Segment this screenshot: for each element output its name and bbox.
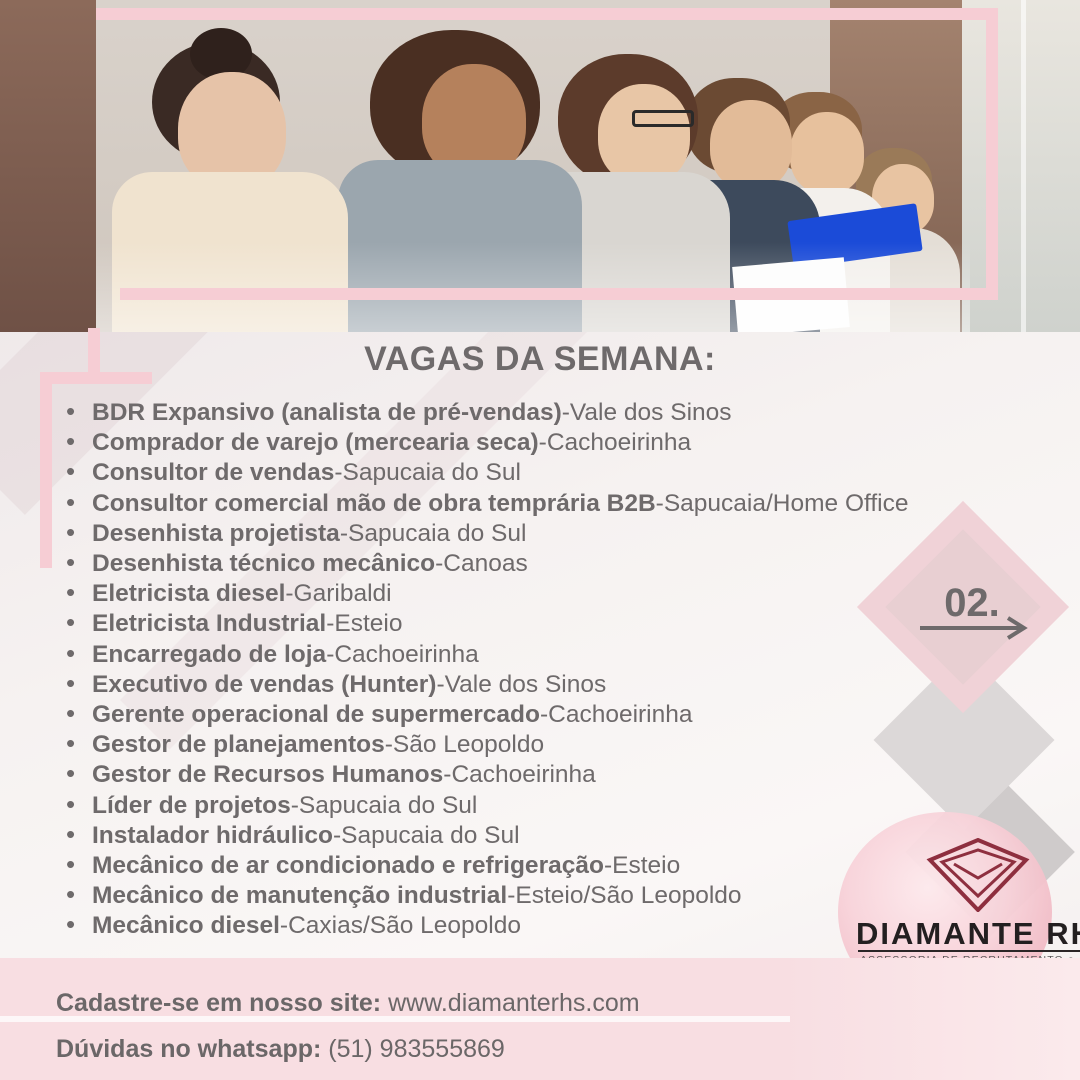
job-role: Gestor de Recursos Humanos (92, 761, 443, 788)
job-city: -Cachoeirinha (326, 641, 479, 668)
list-item: BDR Expansivo (analista de pré-vendas)-V… (58, 398, 1058, 428)
job-city: -Esteio/São Leopoldo (507, 882, 741, 909)
job-role: Desenhista técnico mecânico (92, 550, 435, 577)
job-role: Eletricista Industrial (92, 610, 326, 637)
job-city: -Canoas (435, 550, 528, 577)
job-city: -Cachoeirinha (443, 761, 596, 788)
footer-whatsapp-label: Dúvidas no whatsapp: (56, 1035, 321, 1063)
arrow-right-icon (918, 614, 1036, 642)
job-city: -Cachoeirinha (540, 701, 693, 728)
job-city: -Esteio (604, 852, 680, 879)
job-role: Comprador de varejo (mercearia seca) (92, 429, 539, 456)
job-role: Executivo de vendas (Hunter) (92, 671, 436, 698)
frame-line-left (40, 372, 52, 568)
photo-window (962, 0, 1080, 332)
job-role: Gerente operacional de supermercado (92, 701, 540, 728)
diamond-icon (924, 838, 1032, 912)
job-role: Mecânico de manutenção industrial (92, 882, 507, 909)
job-city: -Sapucaia do Sul (333, 822, 520, 849)
job-role: Líder de projetos (92, 792, 291, 819)
list-item: Consultor de vendas-Sapucaia do Sul (58, 458, 1058, 488)
frame-line-top (96, 8, 998, 20)
header-photo (0, 0, 1080, 332)
footer-whatsapp-value[interactable]: (51) 983555869 (328, 1035, 505, 1063)
job-role: Instalador hidráulico (92, 822, 333, 849)
job-role: Desenhista projetista (92, 520, 340, 547)
list-item: Desenhista projetista-Sapucaia do Sul (58, 519, 1058, 549)
job-role: Consultor de vendas (92, 459, 334, 486)
frame-line-right (986, 8, 998, 300)
job-city: -Sapucaia do Sul (291, 792, 478, 819)
list-item: Consultor comercial mão de obra temprári… (58, 489, 1058, 519)
list-item: Comprador de varejo (mercearia seca)-Cac… (58, 428, 1058, 458)
job-role: BDR Expansivo (analista de pré-vendas) (92, 399, 562, 426)
job-role: Gestor de planejamentos (92, 731, 385, 758)
job-city: -Sapucaia do Sul (334, 459, 521, 486)
job-city: -Esteio (326, 610, 402, 637)
job-role: Mecânico diesel (92, 912, 280, 939)
job-role: Mecânico de ar condicionado e refrigeraç… (92, 852, 604, 879)
job-city: -São Leopoldo (385, 731, 544, 758)
footer-site-value[interactable]: www.diamanterhs.com (388, 989, 639, 1017)
job-role: Eletricista diesel (92, 580, 285, 607)
job-role: Consultor comercial mão de obra temprári… (92, 490, 656, 517)
job-city: -Sapucaia/Home Office (656, 490, 909, 517)
job-role: Encarregado de loja (92, 641, 326, 668)
frame-line-bottom (120, 288, 998, 300)
page-title: VAGAS DA SEMANA: (0, 340, 1080, 379)
logo-name: DIAMANTE RH (856, 916, 1080, 952)
job-city: -Caxias/São Leopoldo (280, 912, 521, 939)
job-city: -Garibaldi (285, 580, 391, 607)
job-city: -Vale dos Sinos (562, 399, 732, 426)
photo-wall-left (0, 0, 96, 332)
job-city: -Sapucaia do Sul (340, 520, 527, 547)
footer-whatsapp: Dúvidas no whatsapp: (51) 983555869 (56, 1035, 505, 1064)
job-city: -Cachoeirinha (539, 429, 692, 456)
photo-light-glare (96, 242, 970, 332)
poster-canvas: VAGAS DA SEMANA: BDR Expansivo (analista… (0, 0, 1080, 1080)
list-item: Executivo de vendas (Hunter)-Vale dos Si… (58, 670, 1058, 700)
logo-divider (858, 950, 1080, 952)
job-city: -Vale dos Sinos (436, 671, 606, 698)
footer-site: Cadastre-se em nosso site: www.diamanter… (56, 989, 640, 1018)
footer-site-label: Cadastre-se em nosso site: (56, 989, 381, 1017)
